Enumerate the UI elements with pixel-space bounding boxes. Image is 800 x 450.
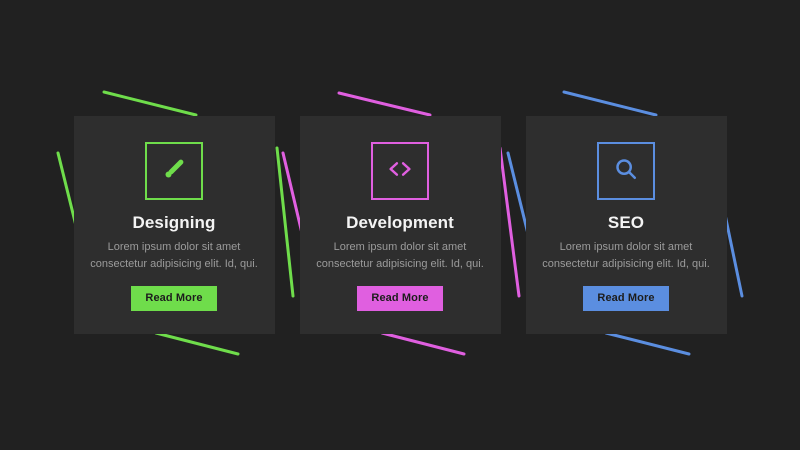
service-title-development: Development <box>346 212 454 233</box>
magnifier-icon <box>611 154 641 189</box>
read-more-button-designing[interactable]: Read More <box>131 286 216 311</box>
service-card-seo[interactable]: SEO Lorem ipsum dolor sit amet consectet… <box>526 116 727 334</box>
read-more-button-development[interactable]: Read More <box>357 286 442 311</box>
service-description-development: Lorem ipsum dolor sit amet consectetur a… <box>314 239 487 273</box>
service-description-seo: Lorem ipsum dolor sit amet consectetur a… <box>540 239 713 273</box>
service-description-designing: Lorem ipsum dolor sit amet consectetur a… <box>88 239 261 273</box>
service-card-development[interactable]: Development Lorem ipsum dolor sit amet c… <box>300 116 501 334</box>
service-icon-box-designing <box>145 142 203 200</box>
service-title-designing: Designing <box>132 212 215 233</box>
service-icon-box-seo <box>597 142 655 200</box>
service-card-list: Designing Lorem ipsum dolor sit amet con… <box>0 0 800 450</box>
services-section: Designing Lorem ipsum dolor sit amet con… <box>0 0 800 450</box>
service-icon-box-development <box>371 142 429 200</box>
service-title-seo: SEO <box>608 212 644 233</box>
paint-brush-icon <box>159 154 189 189</box>
service-card-designing[interactable]: Designing Lorem ipsum dolor sit amet con… <box>74 116 275 334</box>
read-more-button-seo[interactable]: Read More <box>583 286 668 311</box>
code-brackets-icon <box>385 154 415 189</box>
